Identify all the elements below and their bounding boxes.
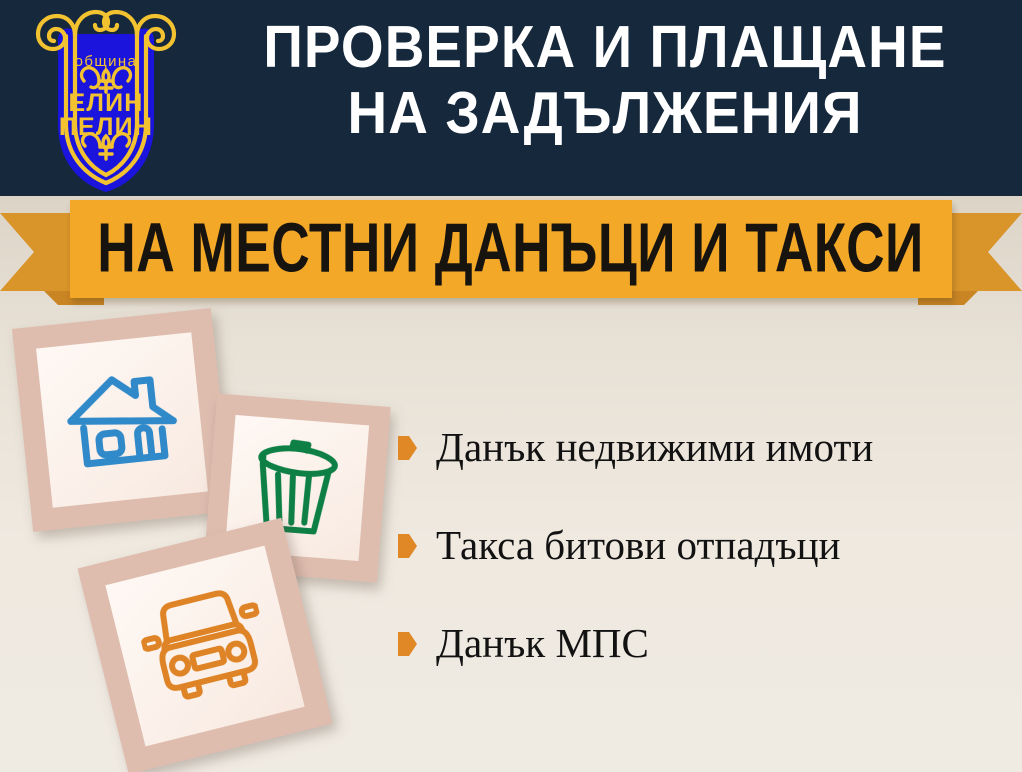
- list-item[interactable]: Данък недвижими имоти: [398, 424, 1010, 470]
- list-item-label: Такса битови отпадъци: [436, 522, 840, 568]
- list-item[interactable]: Данък МПС: [398, 620, 1010, 666]
- logo-word-obshtina: община: [75, 53, 138, 70]
- coat-of-arms-icon: община ЕЛИН ПЕЛИН: [22, 4, 190, 192]
- municipality-logo: община ЕЛИН ПЕЛИН: [22, 4, 190, 192]
- page-title-line-2: НА ЗАДЪЛЖЕНИЯ: [221, 80, 989, 146]
- subtitle-ribbon: НА МЕСТНИ ДАНЪЦИ И ТАКСИ: [0, 196, 1022, 308]
- tax-types-list: Данък недвижими имоти Такса битови отпад…: [398, 424, 1010, 718]
- logo-word-pelin: ПЕЛИН: [59, 113, 153, 141]
- page-title-line-1: ПРОВЕРКА И ПЛАЩАНЕ: [221, 14, 989, 80]
- bullet-arrow-icon: [398, 534, 417, 558]
- list-item-label: Данък недвижими имоти: [436, 424, 873, 470]
- bullet-arrow-icon: [398, 632, 417, 656]
- ribbon-band: НА МЕСТНИ ДАНЪЦИ И ТАКСИ: [70, 200, 952, 298]
- list-item-label: Данък МПС: [436, 620, 649, 666]
- ribbon-label: НА МЕСТНИ ДАНЪЦИ И ТАКСИ: [98, 214, 925, 283]
- bullet-arrow-icon: [398, 436, 417, 460]
- list-item[interactable]: Такса битови отпадъци: [398, 522, 1010, 568]
- header-bar: община ЕЛИН ПЕЛИН ПРОВЕРКА И ПЛАЩАНЕ НА …: [0, 0, 1022, 196]
- stamp-paper: [36, 332, 208, 507]
- car-front-icon: [133, 582, 276, 710]
- header-content: община ЕЛИН ПЕЛИН ПРОВЕРКА И ПЛАЩАНЕ НА …: [0, 0, 1022, 196]
- stamp-card-property: [12, 308, 232, 532]
- poster-canvas: община ЕЛИН ПЕЛИН ПРОВЕРКА И ПЛАЩАНЕ НА …: [0, 0, 1022, 772]
- house-icon: [61, 364, 183, 475]
- page-title: ПРОВЕРКА И ПЛАЩАНЕ НА ЗАДЪЛЖЕНИЯ: [192, 14, 1018, 146]
